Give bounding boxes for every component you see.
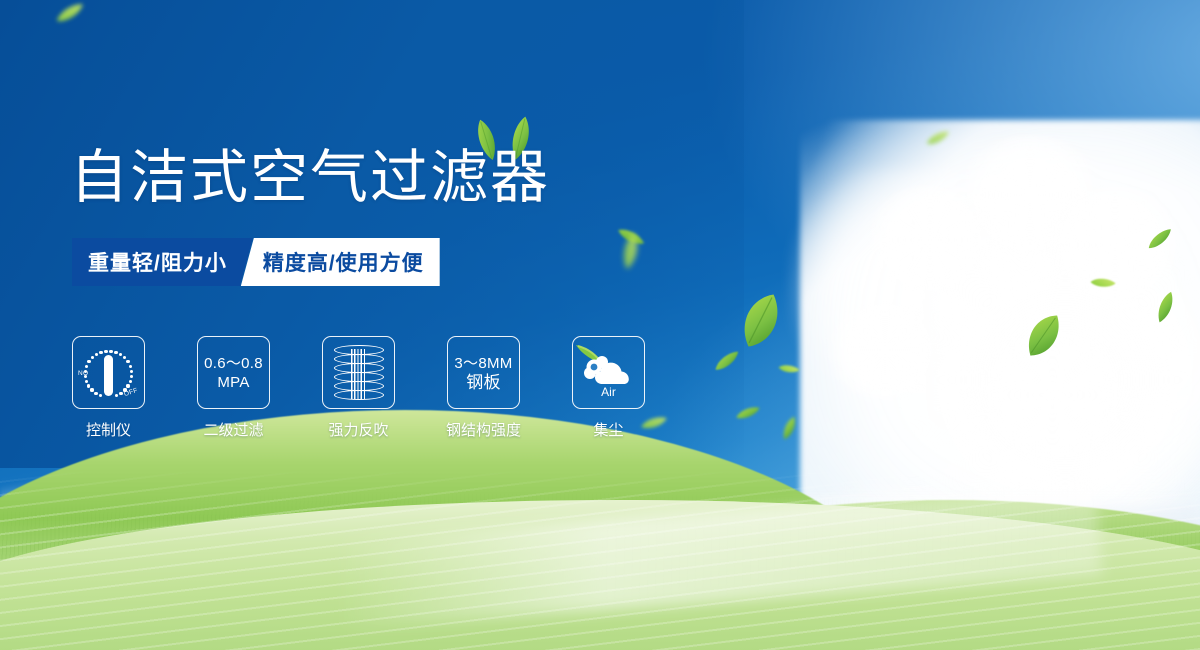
feature-list: NO OFF 控制仪 0.6～0.8 MPA 二级过滤 <box>72 336 645 440</box>
steel-material-label: 钢板 <box>466 373 501 392</box>
dial-pointer <box>104 355 113 396</box>
dial-on-label: NO <box>78 370 88 377</box>
dial-tick-dot <box>130 375 133 378</box>
dial-tick-dot <box>87 360 90 363</box>
dial-tick-dot <box>99 394 102 397</box>
feature-icon-box: 3～8MM 钢板 <box>447 336 520 409</box>
dial-tick-dot <box>119 392 122 395</box>
dial-tick-dot <box>129 365 132 368</box>
steel-text-icon: 3～8MM <box>454 354 512 373</box>
dial-tick-dot <box>123 356 126 359</box>
feature-label: 二级过滤 <box>203 419 263 440</box>
dial-tick-dot <box>109 350 112 353</box>
subtitle-segment-left: 重量轻/阻力小 <box>72 238 253 286</box>
dial-tick-dot <box>87 384 90 387</box>
filter-stack-icon <box>334 345 384 401</box>
product-banner: 自洁式空气过滤器 重量轻/阻力小 精度高/使用方便 NO OFF 控制仪 <box>0 0 1200 650</box>
feature-label: 控制仪 <box>86 419 131 440</box>
control-dial-icon: NO OFF <box>72 337 145 408</box>
air-label: Air <box>572 385 645 399</box>
dial-tick-dot <box>114 351 117 354</box>
dial-tick-dot <box>130 370 133 373</box>
air-cloud-icon: Air <box>572 337 645 408</box>
dial-tick-dot <box>85 380 88 383</box>
dial-tick-dot <box>90 388 93 391</box>
feature-icon-box: Air <box>572 336 645 409</box>
dial-tick-dot <box>85 365 88 368</box>
dial-tick-dot <box>129 380 132 383</box>
dial-tick-dot <box>115 394 118 397</box>
feature-item-back-blow[interactable]: 强力反吹 <box>322 336 395 440</box>
dial-tick-dot <box>126 360 129 363</box>
dial-tick-dot <box>91 356 94 359</box>
banner-content: 自洁式空气过滤器 重量轻/阻力小 精度高/使用方便 NO OFF 控制仪 <box>0 0 1200 650</box>
feature-item-two-stage[interactable]: 0.6～0.8 MPA 二级过滤 <box>197 336 270 440</box>
feature-icon-box <box>322 336 395 409</box>
filter-ring <box>334 390 384 400</box>
feature-label: 集尘 <box>593 419 623 440</box>
feature-label: 强力反吹 <box>328 419 388 440</box>
dial-tick-dot <box>99 351 102 354</box>
dial-tick-dot <box>126 384 129 387</box>
dial-tick-dot <box>95 353 98 356</box>
pressure-text-icon: 0.6～0.8 <box>204 354 263 373</box>
feature-label: 钢结构强度 <box>446 419 521 440</box>
pressure-unit-label: MPA <box>217 373 249 392</box>
feature-item-controller[interactable]: NO OFF 控制仪 <box>72 336 145 440</box>
dial-tick-dot <box>104 350 107 353</box>
feature-icon-box: NO OFF <box>72 336 145 409</box>
feature-item-dust[interactable]: Air 集尘 <box>572 336 645 440</box>
page-title: 自洁式空气过滤器 <box>70 146 550 210</box>
dial-tick-dot <box>119 353 122 356</box>
feature-item-steel[interactable]: 3～8MM 钢板 钢结构强度 <box>447 336 520 440</box>
subtitle-bar: 重量轻/阻力小 精度高/使用方便 <box>72 238 440 286</box>
feature-icon-box: 0.6～0.8 MPA <box>197 336 270 409</box>
subtitle-segment-right: 精度高/使用方便 <box>241 238 440 286</box>
dial-tick-dot <box>94 392 97 395</box>
